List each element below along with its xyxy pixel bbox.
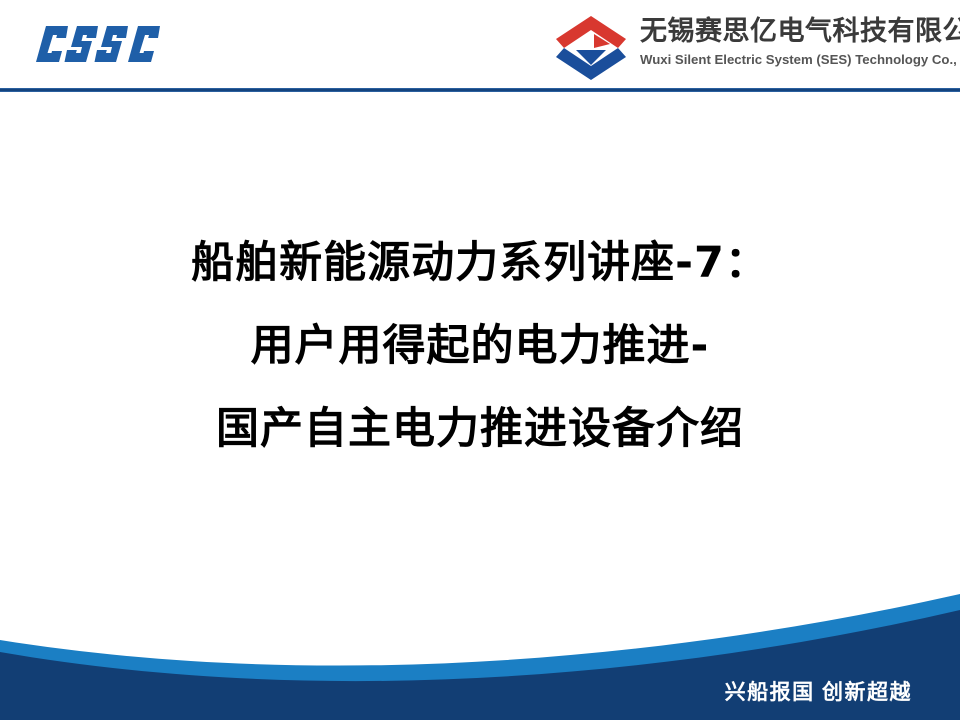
slide-title-block: 船舶新能源动力系列讲座-7： 用户用得起的电力推进- 国产自主电力推进设备介绍 [0, 222, 960, 471]
company-name-en: Wuxi Silent Electric System (SES) Techno… [640, 51, 952, 69]
presentation-slide: 无锡赛思亿电气科技有限公司 Wuxi Silent Electric Syste… [0, 0, 960, 720]
footer-slogan: 兴船报国 创新超越 [725, 676, 912, 706]
company-name-cn: 无锡赛思亿电气科技有限公司 [640, 14, 952, 48]
cssc-logo [32, 20, 172, 68]
title-line-3: 国产自主电力推进设备介绍 [0, 388, 960, 471]
title-line-1: 船舶新能源动力系列讲座-7： [0, 222, 960, 305]
header-divider [0, 88, 960, 92]
sestech-emblem-icon [548, 10, 634, 86]
slide-header: 无锡赛思亿电气科技有限公司 Wuxi Silent Electric Syste… [0, 0, 960, 90]
sestech-logo-block: 无锡赛思亿电气科技有限公司 Wuxi Silent Electric Syste… [548, 8, 952, 86]
title-line-2: 用户用得起的电力推进- [0, 305, 960, 388]
sestech-nameplate: 无锡赛思亿电气科技有限公司 Wuxi Silent Electric Syste… [640, 14, 952, 69]
footer-wave-decoration: 兴船报国 创新超越 [0, 580, 960, 720]
